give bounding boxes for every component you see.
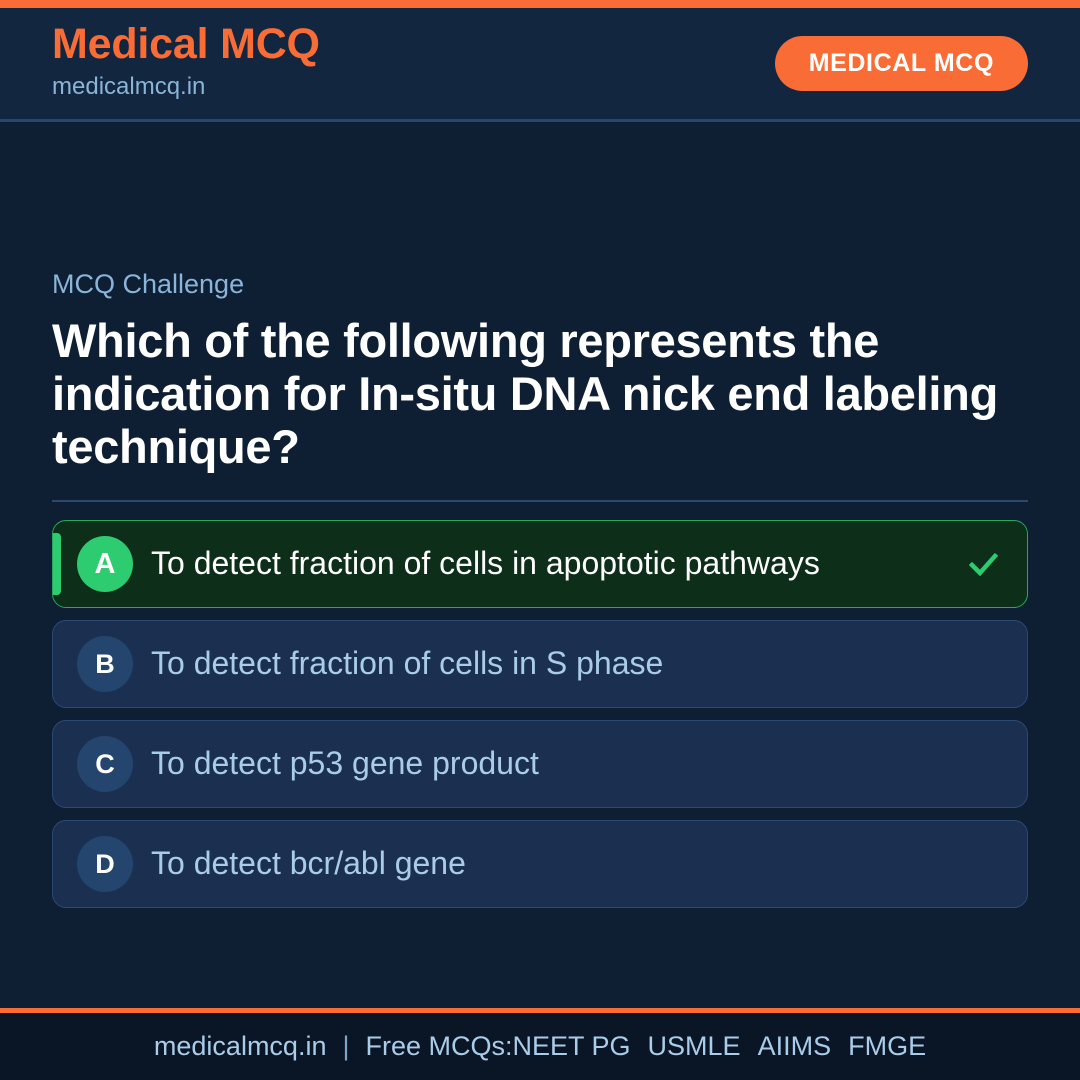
option-a[interactable]: A To detect fraction of cells in apoptot… [52,520,1028,608]
option-a-text: To detect fraction of cells in apoptotic… [151,545,963,582]
option-b-text: To detect fraction of cells in S phase [151,645,963,682]
eyebrow-label: MCQ Challenge [52,270,1028,300]
option-c-letter: C [77,736,133,792]
footer-separator: | [326,1031,365,1062]
footer-exams-label: Free MCQs: [365,1031,512,1062]
option-c-text: To detect p53 gene product [151,745,963,782]
option-c[interactable]: C To detect p53 gene product [52,720,1028,808]
option-b[interactable]: B To detect fraction of cells in S phase [52,620,1028,708]
option-d-letter: D [77,836,133,892]
header-badge: MEDICAL MCQ [775,36,1028,91]
footer-exam-usmle: USMLE [648,1031,741,1062]
brand-subtitle: medicalmcq.in [52,69,320,105]
footer-exam-fmge: FMGE [848,1031,926,1062]
options-list: A To detect fraction of cells in apoptot… [52,520,1028,908]
option-a-letter: A [77,536,133,592]
brand: Medical MCQ medicalmcq.in [52,22,320,105]
footer-exam-aiims: AIIMS [758,1031,832,1062]
option-d-text: To detect bcr/abl gene [151,845,963,882]
main-content: MCQ Challenge Which of the following rep… [0,122,1080,1008]
header: Medical MCQ medicalmcq.in MEDICAL MCQ [0,8,1080,122]
footer-exam-neetpg: NEET PG [513,1031,631,1062]
footer: medicalmcq.in | Free MCQs: NEET PG USMLE… [0,1013,1080,1080]
question-divider [52,500,1028,502]
check-icon [963,544,1003,584]
top-accent-bar [0,0,1080,8]
option-b-letter: B [77,636,133,692]
footer-exams: NEET PG USMLE AIIMS FMGE [513,1031,927,1062]
brand-title: Medical MCQ [52,22,320,67]
option-d[interactable]: D To detect bcr/abl gene [52,820,1028,908]
footer-site: medicalmcq.in [154,1031,327,1062]
question-text: Which of the following represents the in… [52,314,1028,473]
mcq-card: Medical MCQ medicalmcq.in MEDICAL MCQ MC… [0,0,1080,1080]
